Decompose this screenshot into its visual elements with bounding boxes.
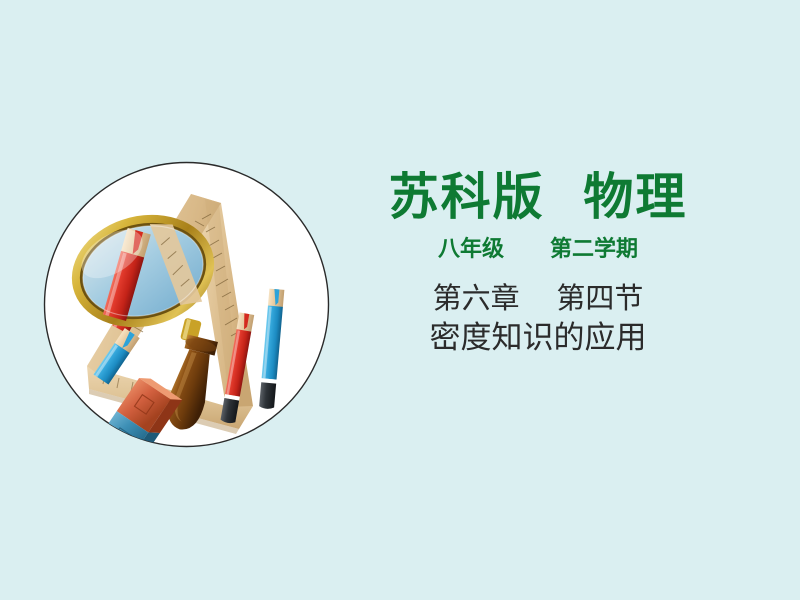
lesson-topic-line: 密度知识的应用: [368, 319, 708, 358]
grade-semester-line: 八年级 第二学期: [368, 237, 708, 263]
chapter-section-line: 第六章 第四节: [368, 280, 708, 316]
page-title: 苏科版 物理: [368, 168, 708, 227]
school-supplies-illustration: [43, 161, 330, 448]
illustration-svg: [43, 161, 330, 448]
slide-root: 苏科版 物理 八年级 第二学期 第六章 第四节 密度知识的应用: [0, 0, 800, 600]
title-text-block: 苏科版 物理 八年级 第二学期 第六章 第四节 密度知识的应用: [368, 168, 708, 357]
